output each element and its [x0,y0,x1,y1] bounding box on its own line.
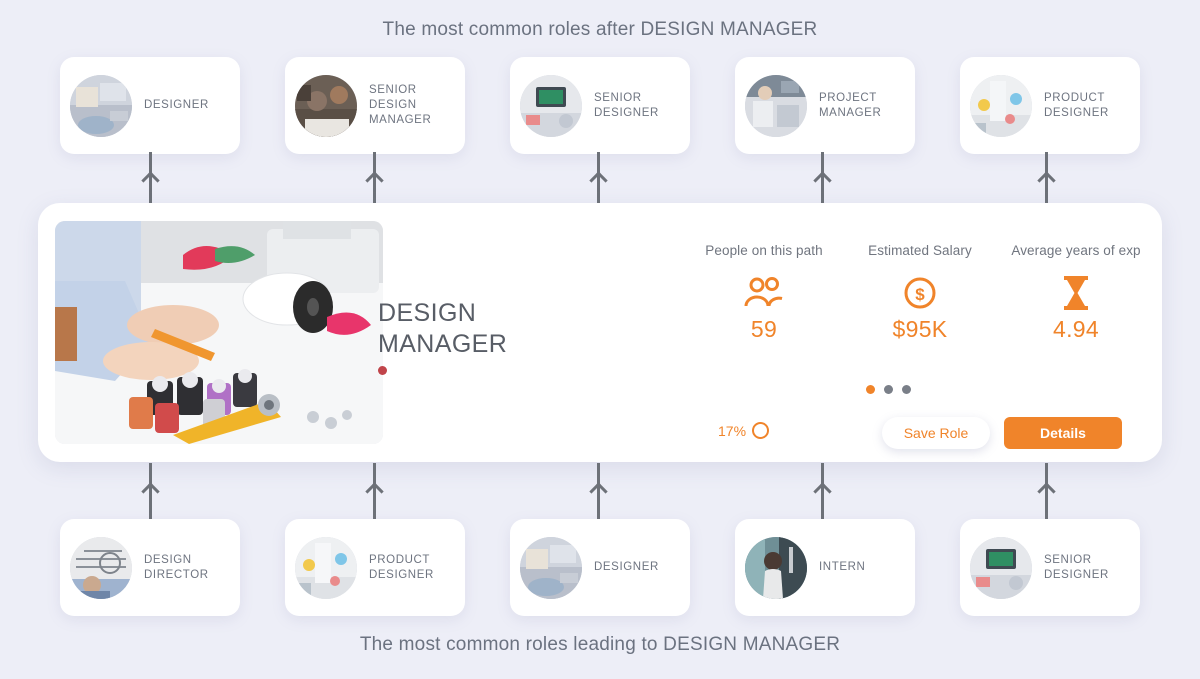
carousel-dot-0[interactable] [866,385,875,394]
people-icon [686,273,842,313]
connector-arrow-next-4 [1037,152,1055,205]
role-label: DESIGNER [594,560,659,575]
design-director-avatar-icon [70,537,132,599]
next-roles-row: DESIGNER SENIOR DESIGN MANAGER [60,57,1140,154]
stat-people-on-path: People on this path 59 [686,243,842,343]
role-status-dot [378,366,387,375]
stats-row: People on this path 59 Estimated Salary [686,243,1156,343]
role-label: INTERN [819,560,865,575]
stat-value: 59 [686,316,842,343]
role-card-prev-1[interactable]: PRODUCT DESIGNER [285,519,465,616]
role-label: PRODUCT DESIGNER [369,553,434,583]
carousel-dot-2[interactable] [902,385,911,394]
role-card-next-1[interactable]: SENIOR DESIGN MANAGER [285,57,465,154]
dollar-circle-icon: $ [842,273,998,313]
stat-estimated-salary: Estimated Salary $ $95K [842,243,998,343]
role-card-prev-0[interactable]: DESIGN DIRECTOR [60,519,240,616]
intern-avatar-icon [745,537,807,599]
role-label: PROJECT MANAGER [819,91,881,121]
stat-label: People on this path [686,243,842,258]
stat-label: Estimated Salary [842,243,998,258]
save-role-button[interactable]: Save Role [882,417,990,449]
previous-roles-row: DESIGN DIRECTOR PRODUCT DESIGNER [60,519,1140,616]
role-card-next-4[interactable]: PRODUCT DESIGNER [960,57,1140,154]
connector-arrow-prev-0 [141,463,159,519]
designer-workspace-avatar-icon [70,75,132,137]
senior-design-manager-avatar-icon [295,75,357,137]
details-button[interactable]: Details [1004,417,1122,449]
role-card-next-3[interactable]: PROJECT MANAGER [735,57,915,154]
role-card-prev-4[interactable]: SENIOR DESIGNER [960,519,1140,616]
connector-arrow-prev-1 [365,463,383,519]
connector-arrow-next-3 [813,152,831,205]
connector-arrow-next-2 [589,152,607,205]
project-manager-avatar-icon [745,75,807,137]
senior-designer-avatar-icon [970,537,1032,599]
stat-average-years-exp: Average years of exp 4.94 [998,243,1154,343]
hero-image [55,221,383,444]
role-card-next-2[interactable]: SENIOR DESIGNER [510,57,690,154]
connector-arrow-next-0 [141,152,159,205]
role-card-prev-3[interactable]: INTERN [735,519,915,616]
stat-label: Average years of exp [998,243,1154,258]
career-path-view: The most common roles after DESIGN MANAG… [0,0,1200,679]
designer-avatar-icon [520,537,582,599]
svg-text:$: $ [915,285,925,304]
role-card-next-0[interactable]: DESIGNER [60,57,240,154]
senior-designer-avatar-icon [520,75,582,137]
hourglass-icon [998,273,1154,313]
role-card-prev-2[interactable]: DESIGNER [510,519,690,616]
role-label: SENIOR DESIGNER [594,91,659,121]
role-label: SENIOR DESIGN MANAGER [369,83,431,128]
carousel-dots[interactable] [866,385,911,394]
role-label: DESIGN DIRECTOR [144,553,209,583]
match-percentage-value: 17% [718,423,746,439]
connector-arrow-prev-4 [1037,463,1055,519]
caption-previous-roles: The most common roles leading to DESIGN … [0,634,1200,656]
connector-arrow-prev-2 [589,463,607,519]
match-percentage: 17% [718,422,769,439]
product-designer-avatar-icon [970,75,1032,137]
product-designer-avatar-icon [295,537,357,599]
role-label: SENIOR DESIGNER [1044,553,1109,583]
connector-arrow-prev-3 [813,463,831,519]
carousel-dot-1[interactable] [884,385,893,394]
page-title: DESIGN MANAGER [378,298,658,360]
connector-arrow-next-1 [365,152,383,205]
current-role-panel: DESIGN MANAGER People on this path 59 Es… [38,203,1162,462]
role-label: PRODUCT DESIGNER [1044,91,1109,121]
caption-next-roles: The most common roles after DESIGN MANAG… [0,19,1200,41]
progress-ring-icon [752,422,769,439]
stat-value: 4.94 [998,316,1154,343]
current-role-title-block: DESIGN MANAGER [378,298,658,375]
stat-value: $95K [842,316,998,343]
role-label: DESIGNER [144,98,209,113]
